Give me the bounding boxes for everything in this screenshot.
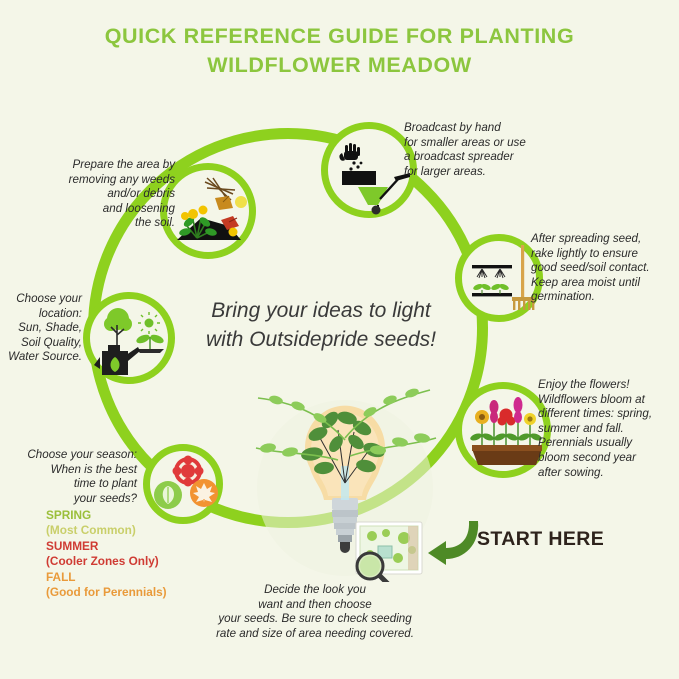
season-fall-note: (Good for Perennials) <box>46 585 167 600</box>
node-broadcast-seed[interactable] <box>321 122 417 218</box>
node-choose-location[interactable] <box>83 292 175 384</box>
page-title: QUICK REFERENCE GUIDE FOR PLANTING WILDF… <box>0 22 679 80</box>
season-fall-label: FALL <box>46 570 167 585</box>
infographic-canvas: QUICK REFERENCE GUIDE FOR PLANTING WILDF… <box>0 0 679 679</box>
curved-left-arrow-icon <box>424 515 482 570</box>
start-here-label: START HERE <box>477 528 604 551</box>
title-line-2: WILDFLOWER MEADOW <box>0 51 679 80</box>
step-text-enjoy-flowers: Enjoy the flowers! Wildflowers bloom at … <box>538 378 679 480</box>
center-tagline: Bring your ideas to light with Outsidepr… <box>176 296 466 354</box>
step-text-decide-look: Decide the look you want and then choose… <box>196 583 434 641</box>
season-spring-note: (Most Common) <box>46 523 167 538</box>
garden-plan-magnifier-icon <box>352 520 424 582</box>
title-line-1: QUICK REFERENCE GUIDE FOR PLANTING <box>105 24 575 48</box>
tree-sun-seedling-wateringcan-icon <box>94 303 172 381</box>
step-text-rake-lightly: After spreading seed, rake lightly to en… <box>531 232 679 305</box>
step-text-broadcast-seed: Broadcast by hand for smaller areas or u… <box>404 121 564 179</box>
node-rake-lightly[interactable] <box>455 234 543 322</box>
step-text-choose-season: Choose your season: When is the best tim… <box>10 448 137 506</box>
season-summer-label: SUMMER <box>46 539 167 554</box>
flower-tray-icon <box>466 393 548 475</box>
weeds-debris-soil-icon <box>171 174 253 256</box>
step-text-choose-location: Choose your location: Sun, Shade, Soil Q… <box>6 292 82 365</box>
step-text-prepare-area: Prepare the area by removing any weeds a… <box>40 158 175 231</box>
season-legend: SPRING (Most Common) SUMMER (Cooler Zone… <box>46 508 167 600</box>
season-summer-note: (Cooler Zones Only) <box>46 554 167 569</box>
node-enjoy-flowers[interactable] <box>455 382 551 478</box>
hand-broadcast-spreader-icon <box>332 133 414 215</box>
season-spring-label: SPRING <box>46 508 167 523</box>
